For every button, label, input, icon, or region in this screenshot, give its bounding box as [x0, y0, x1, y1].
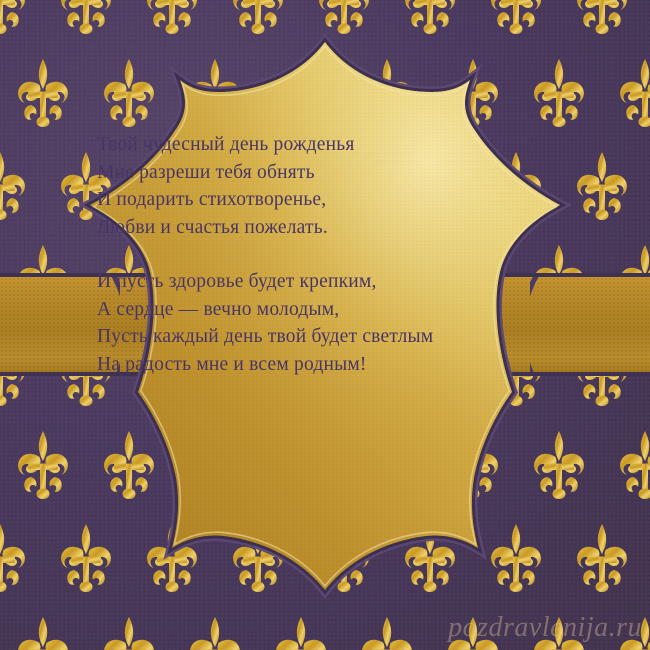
- verse-line: Пусть каждый день твой будет светлым: [97, 323, 527, 351]
- verse-line: Любви и счастья пожелать.: [97, 214, 527, 242]
- verse-line: Твой чудесный день рожденья: [97, 131, 527, 159]
- verse-line: На радость мне и всем родным!: [97, 351, 527, 379]
- verse-stanza-1: Твой чудесный день рожденьяМне разреши т…: [97, 131, 527, 241]
- verse-line: Мне разреши тебя обнять: [97, 159, 527, 187]
- verse-text: Твой чудесный день рожденьяМне разреши т…: [97, 131, 527, 378]
- stanza-gap: [97, 241, 527, 268]
- verse-stanza-2: И пусть здоровье будет крепким,А сердце …: [97, 268, 527, 378]
- greeting-card: Твой чудесный день рожденьяМне разреши т…: [0, 0, 650, 650]
- verse-line: И пусть здоровье будет крепким,: [97, 268, 527, 296]
- verse-line: И подарить стихотворенье,: [97, 186, 527, 214]
- verse-line: А сердце — вечно молодым,: [97, 296, 527, 324]
